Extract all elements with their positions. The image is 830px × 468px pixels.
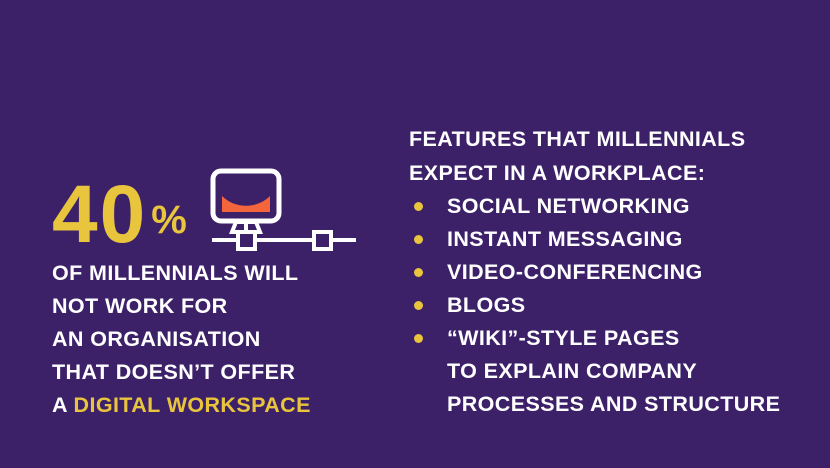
stat-description-line: THAT DOESN’T OFFER	[52, 356, 392, 389]
final-line-prefix: A	[52, 393, 74, 417]
bullet-dot-icon	[414, 235, 423, 244]
infographic-canvas: 40 % OF MILLENNIALS WILL NOT WORK FOR AN…	[0, 0, 830, 468]
list-item-label: SOCIAL NETWORKING	[447, 194, 690, 218]
digital-workspace-highlight: DIGITAL WORKSPACE	[74, 393, 311, 417]
list-item: INSTANT MESSAGING	[409, 223, 819, 256]
features-heading-line: FEATURES THAT MILLENNIALS	[409, 122, 819, 156]
stat-description-final-line: A DIGITAL WORKSPACE	[52, 389, 392, 422]
features-heading-line: EXPECT IN A WORKPLACE:	[409, 156, 819, 190]
network-node-square	[314, 232, 331, 249]
monitor-frame	[213, 171, 279, 221]
stat-description: OF MILLENNIALS WILL NOT WORK FOR AN ORGA…	[52, 257, 392, 422]
stat-headline: 40 %	[52, 176, 187, 254]
list-item-continuation: TO EXPLAIN COMPANY	[447, 355, 819, 388]
bullet-dot-icon	[414, 301, 423, 310]
list-item: BLOGS	[409, 289, 819, 322]
monitor-network-icon-svg	[210, 168, 358, 252]
list-item-label: BLOGS	[447, 293, 525, 317]
list-item-label: VIDEO-CONFERENCING	[447, 260, 703, 284]
monitor-network-icon	[210, 168, 358, 252]
stat-number: 40	[52, 176, 147, 254]
stat-description-line: NOT WORK FOR	[52, 290, 392, 323]
monitor-screen-fill	[222, 196, 270, 212]
list-item: SOCIAL NETWORKING	[409, 190, 819, 223]
list-item: VIDEO-CONFERENCING	[409, 256, 819, 289]
list-item: “WIKI”-STYLE PAGES TO EXPLAIN COMPANY PR…	[409, 322, 819, 421]
bullet-dot-icon	[414, 202, 423, 211]
stat-description-line: AN ORGANISATION	[52, 323, 392, 356]
features-list: SOCIAL NETWORKING INSTANT MESSAGING VIDE…	[409, 190, 819, 421]
features-heading: FEATURES THAT MILLENNIALS EXPECT IN A WO…	[409, 122, 819, 190]
list-item-label: “WIKI”-STYLE PAGES	[447, 326, 680, 350]
bullet-dot-icon	[414, 268, 423, 277]
features-column: FEATURES THAT MILLENNIALS EXPECT IN A WO…	[409, 122, 819, 421]
network-node-square	[238, 232, 255, 249]
stat-description-line: OF MILLENNIALS WILL	[52, 257, 392, 290]
list-item-label: INSTANT MESSAGING	[447, 227, 683, 251]
list-item-continuation: PROCESSES AND STRUCTURE	[447, 388, 819, 421]
stat-column: 40 % OF MILLENNIALS WILL NOT WORK FOR AN…	[0, 0, 400, 468]
stat-percent-symbol: %	[151, 192, 187, 248]
bullet-dot-icon	[414, 334, 423, 343]
